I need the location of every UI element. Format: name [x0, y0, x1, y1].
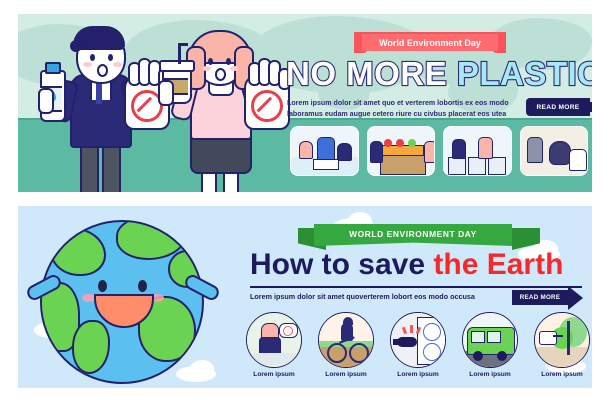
banner1-title-part1: NO MORE	[286, 55, 457, 92]
eco-tip-caption: Lorem ipsum	[325, 371, 366, 378]
eco-tip-plant-tree[interactable]: Lorem ipsum	[532, 312, 592, 384]
icon-bicycle-commute	[318, 312, 374, 368]
eco-tip-recycling[interactable]: Lorem ipsum	[244, 312, 304, 384]
banner1-body-text: Lorem ipsum dolor sit amet quo et verter…	[287, 98, 515, 119]
banner1-title: NO MORE PLASTIC	[286, 56, 592, 92]
arrow-icon	[568, 286, 583, 310]
banner1-content: World Environment Day NO MORE PLASTIC Lo…	[270, 18, 592, 192]
banner2-content: WORLD ENVIRONMENT DAY How to save the Ea…	[230, 212, 592, 388]
bottle-neck-icon	[588, 102, 592, 112]
icon-recycling-sorting	[246, 312, 302, 368]
eco-tip-public-transport[interactable]: Lorem ipsum	[460, 312, 520, 384]
banner-how-to-save-the-earth[interactable]: WORLD ENVIRONMENT DAY How to save the Ea…	[18, 206, 592, 388]
thumbnail-trash-collection[interactable]	[520, 126, 589, 176]
eco-tip-unplug[interactable]: Lorem ipsum	[388, 312, 448, 384]
eco-tip-caption: Lorem ipsum	[397, 371, 438, 378]
eco-tip-caption: Lorem ipsum	[541, 371, 582, 378]
icon-public-transport	[462, 312, 518, 368]
ribbon-tail-right	[512, 228, 540, 250]
thumbnail-office-recycling[interactable]	[290, 126, 359, 176]
title-underline	[250, 286, 582, 288]
icon-unplug-power	[390, 312, 446, 368]
icon-plant-tree	[534, 312, 590, 368]
thumbnail-market-produce[interactable]	[367, 126, 436, 176]
poster-canvas: World Environment Day NO MORE PLASTIC Lo…	[0, 0, 610, 400]
thumbnail-strip	[290, 126, 588, 174]
banner2-title-part2: the Earth	[433, 248, 563, 281]
banner1-title-part2: PLASTIC	[457, 55, 592, 92]
eco-tips-row: Lorem ipsum Lorem ipsum	[244, 312, 592, 384]
banner-no-more-plastic[interactable]: World Environment Day NO MORE PLASTIC Lo…	[18, 14, 592, 192]
banner1-read-more-button[interactable]: READ MORE	[526, 98, 590, 116]
eco-tip-caption: Lorem ipsum	[253, 371, 294, 378]
cloud-icon	[190, 360, 214, 378]
earth-character	[40, 220, 204, 384]
banner1-ribbon-label: World Environment Day	[354, 34, 506, 52]
eco-tip-caption: Lorem ipsum	[469, 371, 510, 378]
banner2-read-more-button[interactable]: READ MORE	[512, 290, 568, 305]
banner2-title: How to save the Earth	[250, 248, 592, 282]
eco-tip-bicycle[interactable]: Lorem ipsum	[316, 312, 376, 384]
banner2-ribbon-label: WORLD ENVIRONMENT DAY	[314, 224, 512, 244]
banner2-title-part1: How to save	[250, 248, 433, 281]
thumbnail-sorting-bins[interactable]	[443, 126, 512, 176]
banner2-body-text: Lorem ipsum dolor sit amet quoverterem l…	[250, 291, 498, 302]
